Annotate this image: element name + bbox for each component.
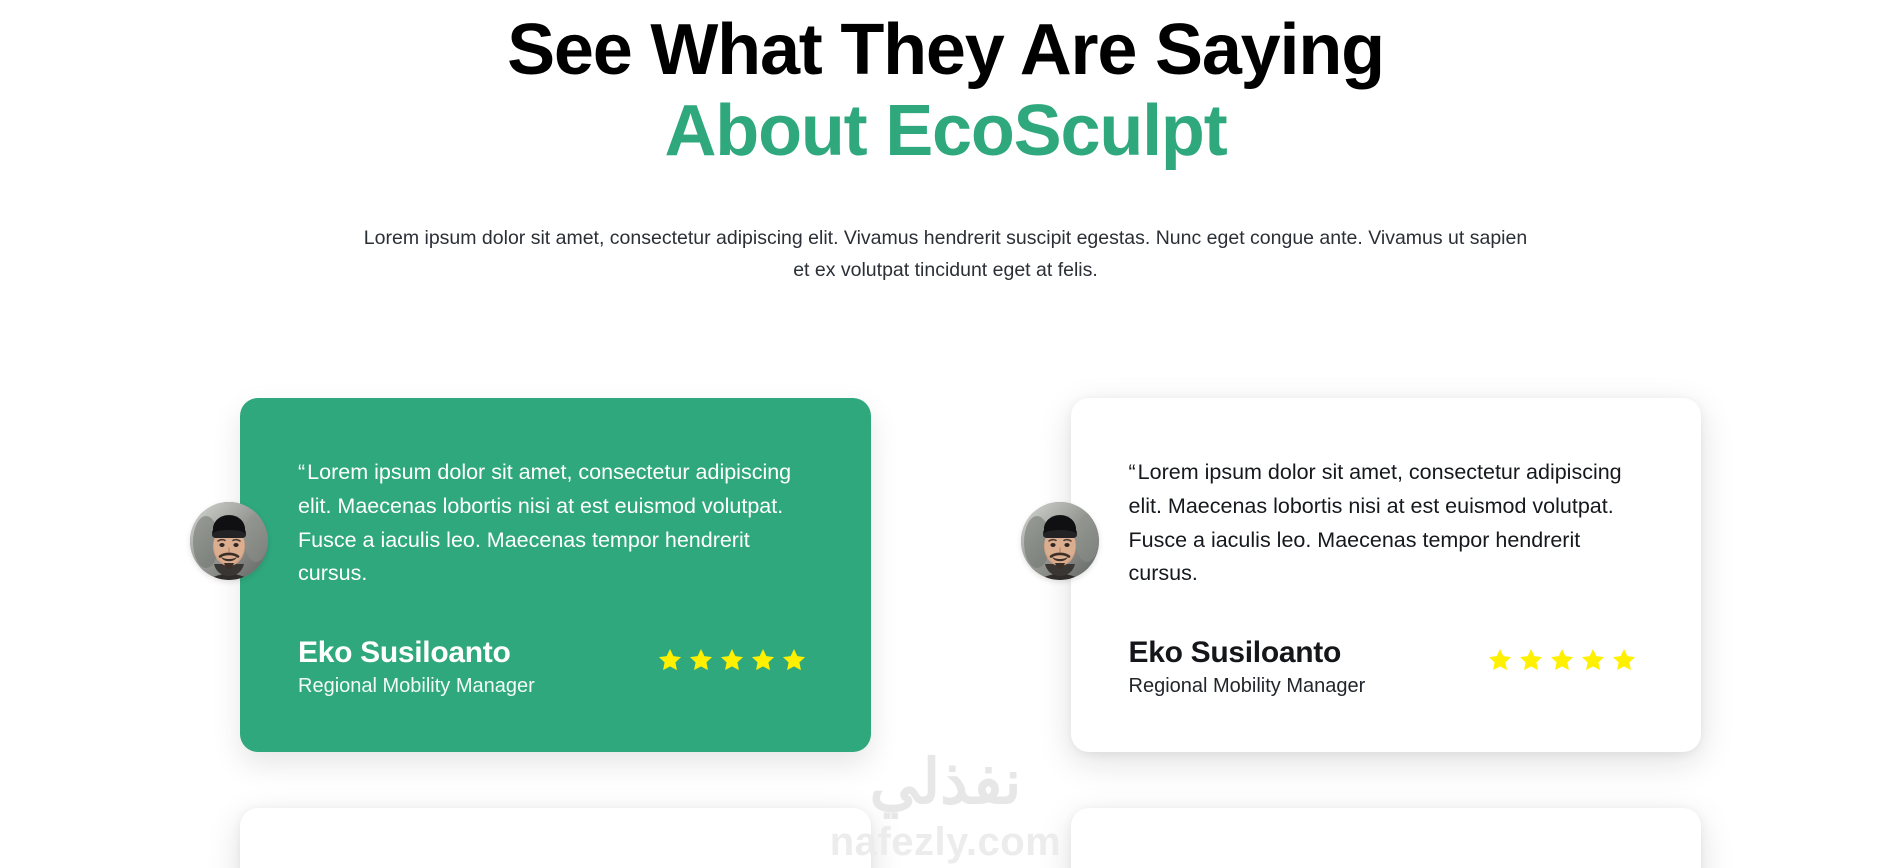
testimonial-card[interactable]: “Lorem ipsum dolor sit amet, consectetur… <box>1071 808 1702 868</box>
testimonial-name: Eko Susiloanto <box>1129 635 1366 670</box>
page-header: See What They Are Saying About EcoSculpt… <box>0 0 1891 286</box>
rating-stars <box>1487 647 1637 673</box>
testimonial-quote-text: Lorem ipsum dolor sit amet, consectetur … <box>298 460 791 585</box>
star-icon <box>1487 647 1513 673</box>
avatar <box>190 502 268 580</box>
testimonial-card-wrapper: “Lorem ipsum dolor sit amet, consectetur… <box>1021 398 1702 752</box>
testimonial-quote: “Lorem ipsum dolor sit amet, consectetur… <box>1129 456 1642 591</box>
star-icon <box>1580 647 1606 673</box>
page-subtitle: Lorem ipsum dolor sit amet, consectetur … <box>356 223 1536 286</box>
page-title-line-1: See What They Are Saying <box>0 10 1891 91</box>
rating-stars <box>657 647 807 673</box>
testimonial-name: Eko Susiloanto <box>298 635 535 670</box>
avatar <box>1021 502 1099 580</box>
quote-mark-icon: “ <box>298 460 305 484</box>
star-icon <box>719 647 745 673</box>
testimonial-card-wrapper: “Lorem ipsum dolor sit amet, consectetur… <box>190 398 871 752</box>
testimonial-person: Eko Susiloanto Regional Mobility Manager <box>298 635 535 700</box>
star-icon <box>1518 647 1544 673</box>
star-icon <box>781 647 807 673</box>
testimonial-person: Eko Susiloanto Regional Mobility Manager <box>1129 635 1366 700</box>
testimonial-role: Regional Mobility Manager <box>1129 673 1366 700</box>
testimonial-role: Regional Mobility Manager <box>298 673 535 700</box>
testimonial-grid: “Lorem ipsum dolor sit amet, consectetur… <box>0 398 1891 868</box>
testimonial-quote-text: Lorem ipsum dolor sit amet, consectetur … <box>1129 460 1622 585</box>
testimonials-page: See What They Are Saying About EcoSculpt… <box>0 0 1891 868</box>
star-icon <box>1549 647 1575 673</box>
testimonial-footer: Eko Susiloanto Regional Mobility Manager <box>298 635 811 700</box>
quote-mark-icon: “ <box>1129 460 1136 484</box>
testimonial-card-wrapper: “Lorem ipsum dolor sit amet, consectetur… <box>190 808 871 868</box>
star-icon <box>1611 647 1637 673</box>
page-title: See What They Are Saying About EcoSculpt <box>0 10 1891 171</box>
testimonial-card[interactable]: “Lorem ipsum dolor sit amet, consectetur… <box>240 808 871 868</box>
page-title-line-2: About EcoSculpt <box>0 91 1891 172</box>
star-icon <box>750 647 776 673</box>
testimonial-footer: Eko Susiloanto Regional Mobility Manager <box>1129 635 1642 700</box>
testimonial-quote: “Lorem ipsum dolor sit amet, consectetur… <box>298 456 811 591</box>
star-icon <box>657 647 683 673</box>
testimonial-card-wrapper: “Lorem ipsum dolor sit amet, consectetur… <box>1021 808 1702 868</box>
testimonial-card[interactable]: “Lorem ipsum dolor sit amet, consectetur… <box>1071 398 1702 752</box>
testimonial-card[interactable]: “Lorem ipsum dolor sit amet, consectetur… <box>240 398 871 752</box>
star-icon <box>688 647 714 673</box>
